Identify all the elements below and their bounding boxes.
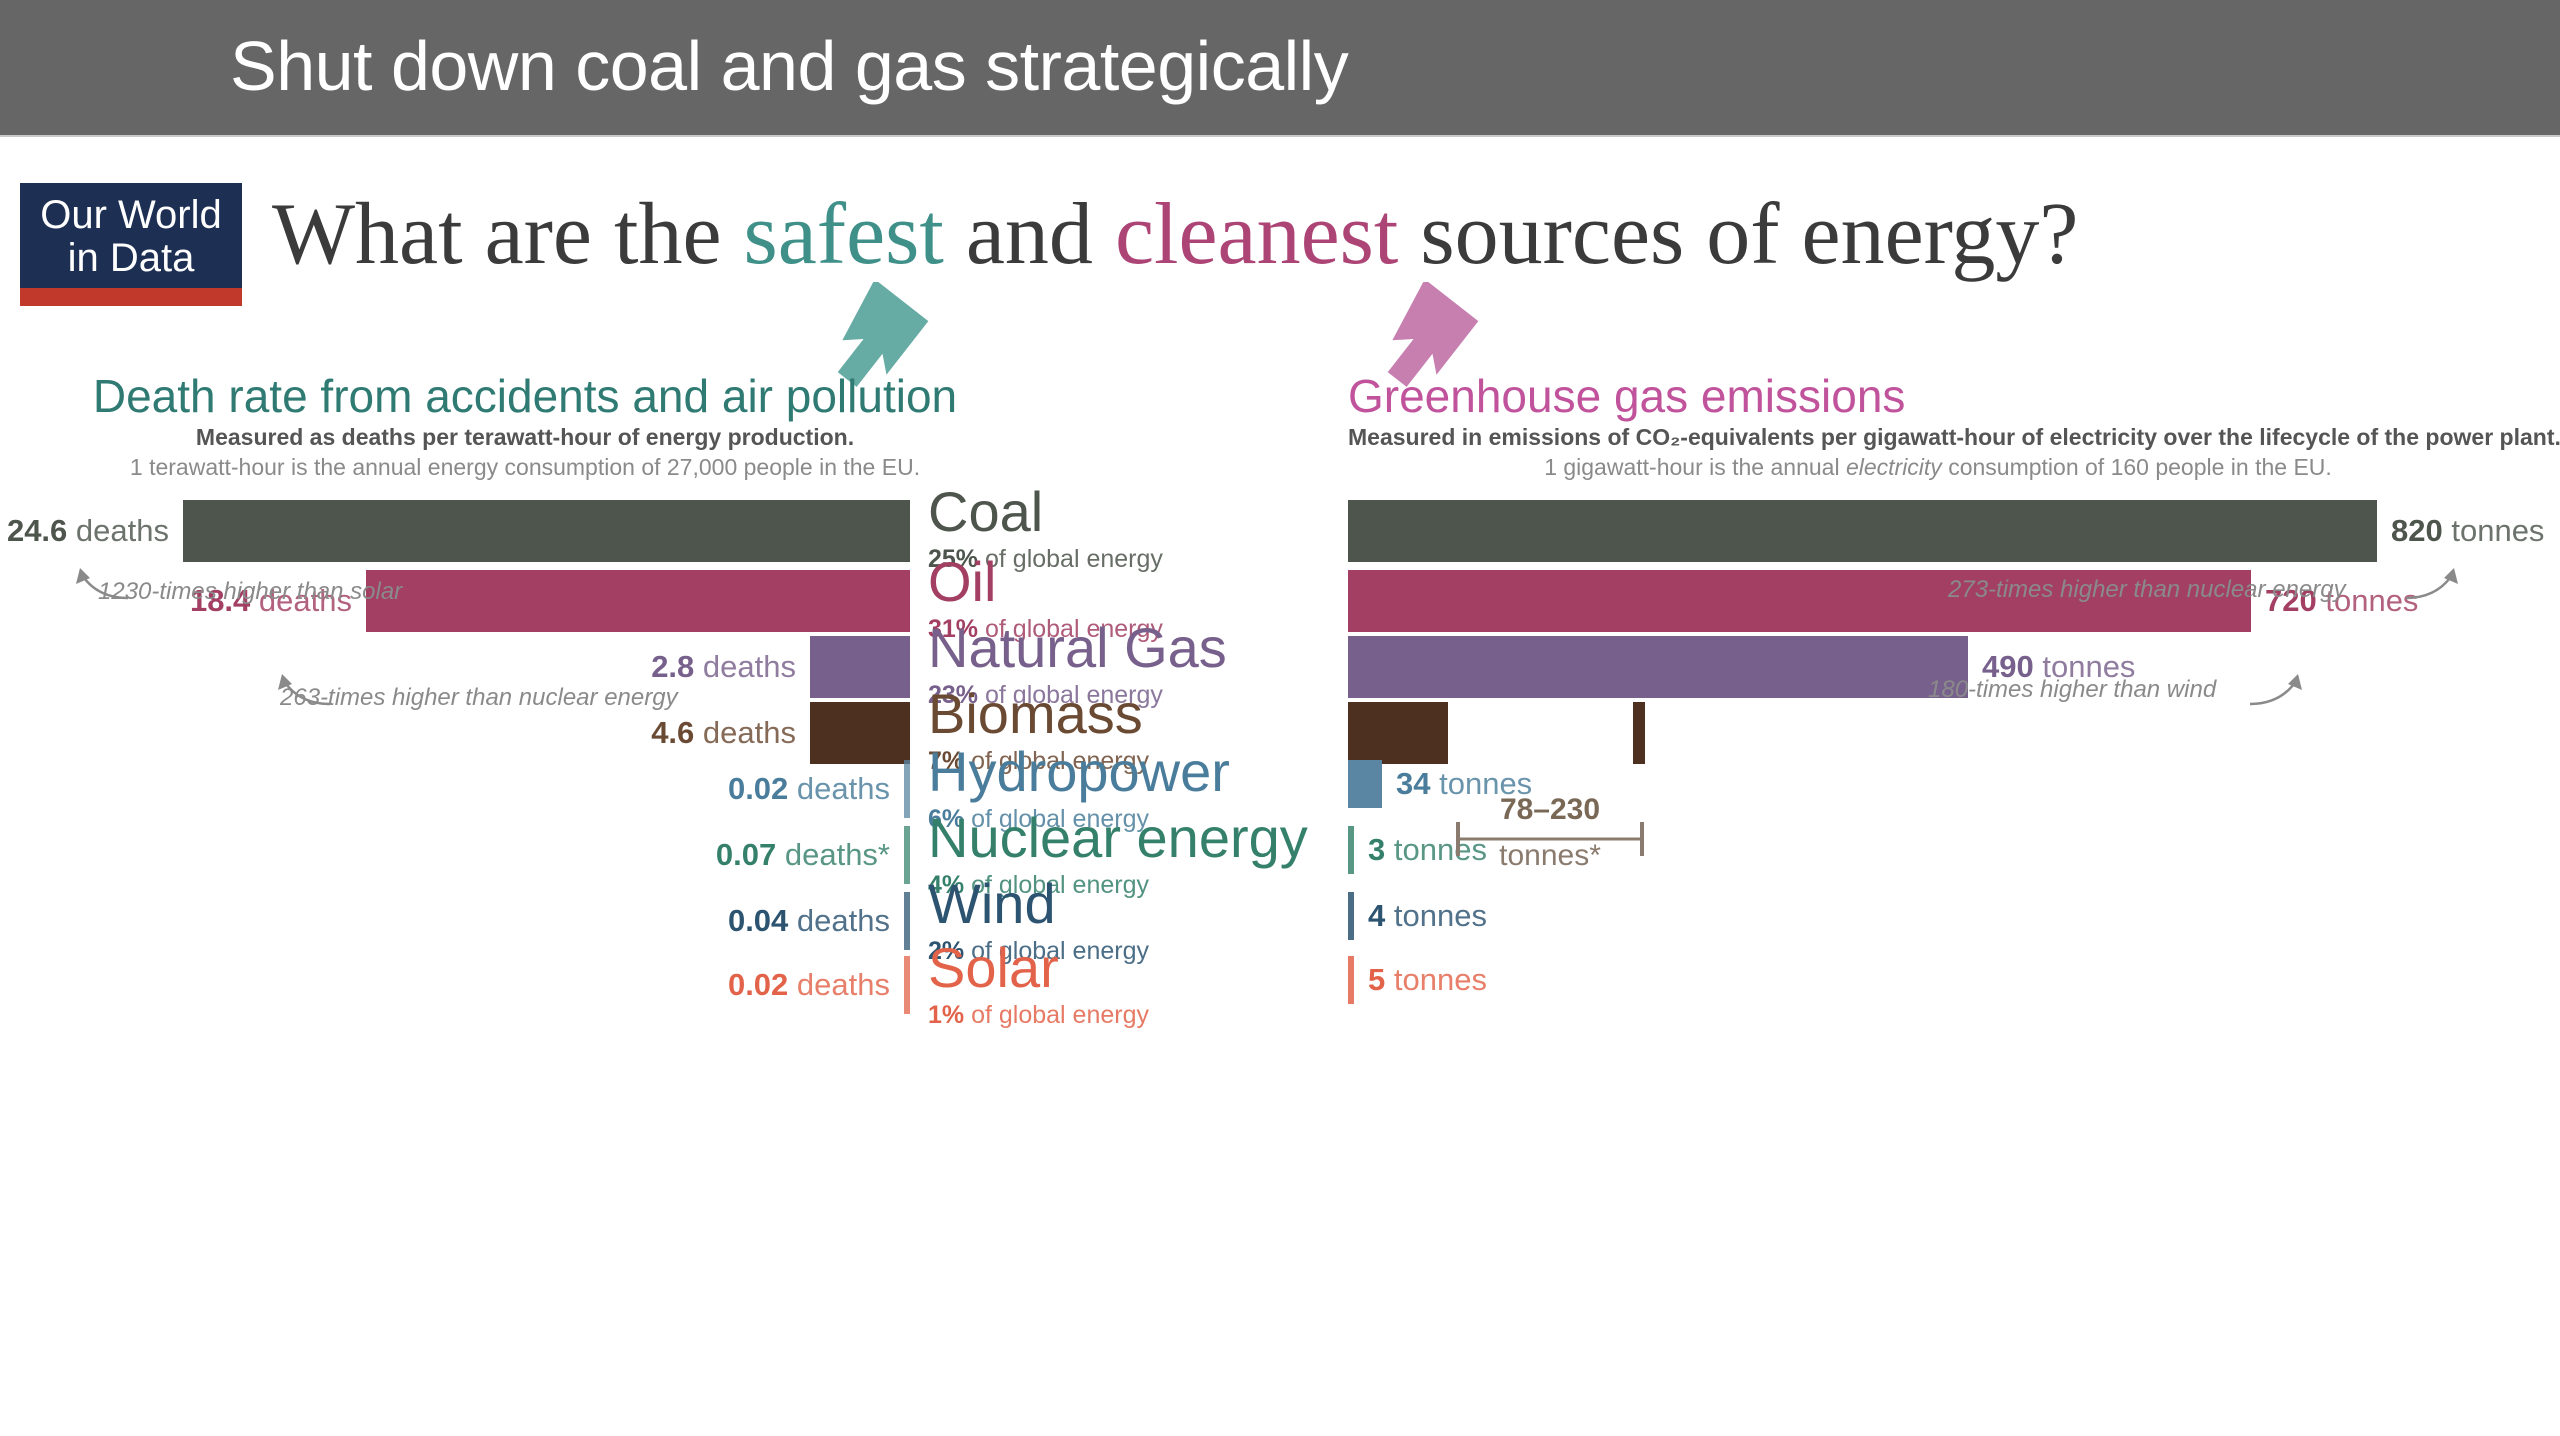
energy-share-label: 1% of global energy bbox=[928, 1000, 1149, 1030]
ghg-emissions-bar bbox=[1348, 956, 1354, 1004]
ghg-column-subtitle-1: Measured in emissions of CO₂-equivalents… bbox=[1348, 422, 2528, 452]
energy-source-name: Oil bbox=[928, 554, 1163, 610]
energy-source-name: Hydropower bbox=[928, 744, 1230, 800]
ghg-emissions-label: 5 tonnes bbox=[1368, 964, 1487, 995]
death-rate-value: 0.07 bbox=[716, 837, 776, 872]
death-rate-bar bbox=[904, 760, 910, 818]
ghg-emissions-bar bbox=[1348, 892, 1354, 940]
ghg-emissions-value: 820 bbox=[2391, 513, 2443, 548]
deaths-column-subtitle-1: Measured as deaths per terawatt-hour of … bbox=[75, 422, 975, 452]
oil-ghg-annotation: 180-times higher than wind bbox=[1928, 678, 2216, 702]
ghg-emissions-unit: tonnes bbox=[1394, 898, 1487, 933]
ghg-emissions-bar bbox=[1348, 702, 1448, 764]
biomass-range-unit: tonnes* bbox=[1455, 840, 1645, 872]
ghg-emissions-unit: tonnes bbox=[2451, 513, 2544, 548]
death-rate-value: 2.8 bbox=[651, 649, 694, 684]
ghg-emissions-value: 5 bbox=[1368, 962, 1385, 997]
ghg-emissions-value: 3 bbox=[1368, 832, 1385, 867]
death-rate-value: 0.02 bbox=[728, 771, 788, 806]
biomass-upper-bound-marker bbox=[1633, 702, 1645, 764]
ghg-emissions-label: 820 tonnes bbox=[2391, 515, 2544, 546]
death-rate-unit: deaths bbox=[76, 513, 169, 548]
ghg-subtitle-pre: 1 gigawatt-hour is the annual bbox=[1544, 454, 1846, 480]
slide-title-bar: Shut down coal and gas strategically bbox=[0, 0, 2560, 137]
ghg-column-title: Greenhouse gas emissions bbox=[1348, 370, 2528, 422]
ghg-emissions-value: 4 bbox=[1368, 898, 1385, 933]
death-rate-unit: deaths bbox=[797, 903, 890, 938]
energy-share-value: 1% bbox=[928, 1001, 964, 1029]
death-rate-value: 24.6 bbox=[7, 513, 67, 548]
death-rate-bar bbox=[810, 702, 910, 764]
death-rate-label: 4.6 deaths bbox=[0, 717, 796, 748]
ghg-emissions-bar bbox=[1348, 636, 1968, 698]
ghg-emissions-bar bbox=[1348, 760, 1382, 808]
coal-deaths-annotation: 1230-times higher than solar bbox=[98, 580, 402, 604]
ghg-column-header: Greenhouse gas emissions Measured in emi… bbox=[1348, 370, 2528, 482]
death-rate-label: 0.04 deaths bbox=[0, 905, 890, 936]
slide-title: Shut down coal and gas strategically bbox=[230, 26, 1348, 106]
ghg-emissions-bar bbox=[1348, 826, 1354, 874]
logo-box: Our World in Data bbox=[20, 183, 242, 288]
headline-cleanest: cleanest bbox=[1115, 186, 1398, 283]
death-rate-label: 0.02 deaths bbox=[0, 773, 890, 804]
biomass-range-indicator: 78–230 tonnes* bbox=[1455, 806, 1645, 872]
oil-deaths-annotation: 263-times higher than nuclear energy bbox=[280, 686, 678, 710]
energy-source-block: Solar1% of global energy bbox=[928, 940, 1149, 1030]
death-rate-label: 0.07 deaths* bbox=[0, 839, 890, 870]
logo-line-2: in Data bbox=[20, 238, 242, 278]
death-rate-unit: deaths bbox=[703, 715, 796, 750]
ghg-emissions-label: 4 tonnes bbox=[1368, 900, 1487, 931]
energy-source-name: Biomass bbox=[928, 686, 1149, 742]
death-rate-label: 2.8 deaths bbox=[0, 651, 796, 682]
ghg-emissions-bar bbox=[1348, 500, 2377, 562]
coal-ghg-annotation: 273-times higher than nuclear energy bbox=[1948, 578, 2346, 602]
energy-share-suffix: of global energy bbox=[971, 1001, 1149, 1029]
logo-accent-bar bbox=[20, 288, 242, 306]
ghg-emissions-value: 34 bbox=[1396, 766, 1430, 801]
page-title: What are the safest and cleanest sources… bbox=[272, 185, 2078, 285]
biomass-range-number: 78–230 bbox=[1500, 793, 1600, 826]
death-rate-bar bbox=[904, 892, 910, 950]
death-rate-bar bbox=[810, 636, 910, 698]
energy-source-name: Wind bbox=[928, 876, 1149, 932]
death-rate-unit: deaths* bbox=[785, 837, 890, 872]
death-rate-value: 0.02 bbox=[728, 967, 788, 1002]
headline-safest: safest bbox=[744, 186, 944, 283]
death-rate-label: 0.02 deaths bbox=[0, 969, 890, 1000]
energy-source-name: Coal bbox=[928, 484, 1163, 540]
ghg-column-subtitle-2: 1 gigawatt-hour is the annual electricit… bbox=[1348, 452, 2528, 482]
death-rate-value: 4.6 bbox=[651, 715, 694, 750]
deaths-column-subtitle-2: 1 terawatt-hour is the annual energy con… bbox=[75, 452, 975, 482]
death-rate-unit: deaths bbox=[797, 771, 890, 806]
ghg-subtitle-em: electricity bbox=[1846, 454, 1942, 480]
biomass-range-value: 78–230 bbox=[1455, 794, 1645, 826]
owid-logo[interactable]: Our World in Data bbox=[20, 183, 242, 306]
death-rate-bar bbox=[183, 500, 910, 562]
death-rate-bar bbox=[904, 826, 910, 884]
death-rate-bar bbox=[366, 570, 910, 632]
death-rate-value: 0.04 bbox=[728, 903, 788, 938]
deaths-column-title: Death rate from accidents and air pollut… bbox=[75, 370, 975, 422]
death-rate-bar bbox=[904, 956, 910, 1014]
headline-part-1: What are the bbox=[272, 186, 744, 283]
oil-ghg-annotation-arrow-icon bbox=[2248, 664, 2328, 710]
energy-source-name: Solar bbox=[928, 940, 1149, 996]
ghg-emissions-unit: tonnes bbox=[1394, 962, 1487, 997]
death-rate-unit: deaths bbox=[797, 967, 890, 1002]
energy-source-name: Nuclear energy bbox=[928, 810, 1308, 866]
logo-line-1: Our World bbox=[20, 195, 242, 235]
deaths-column-header: Death rate from accidents and air pollut… bbox=[75, 370, 975, 482]
headline-part-2: and bbox=[944, 186, 1115, 283]
ghg-subtitle-post: consumption of 160 people in the EU. bbox=[1942, 454, 2332, 480]
coal-ghg-annotation-arrow-icon bbox=[2404, 558, 2484, 604]
headline-part-3: sources of energy? bbox=[1398, 186, 2078, 283]
energy-source-name: Natural Gas bbox=[928, 620, 1227, 676]
death-rate-unit: deaths bbox=[703, 649, 796, 684]
death-rate-label: 24.6 deaths bbox=[0, 515, 169, 546]
